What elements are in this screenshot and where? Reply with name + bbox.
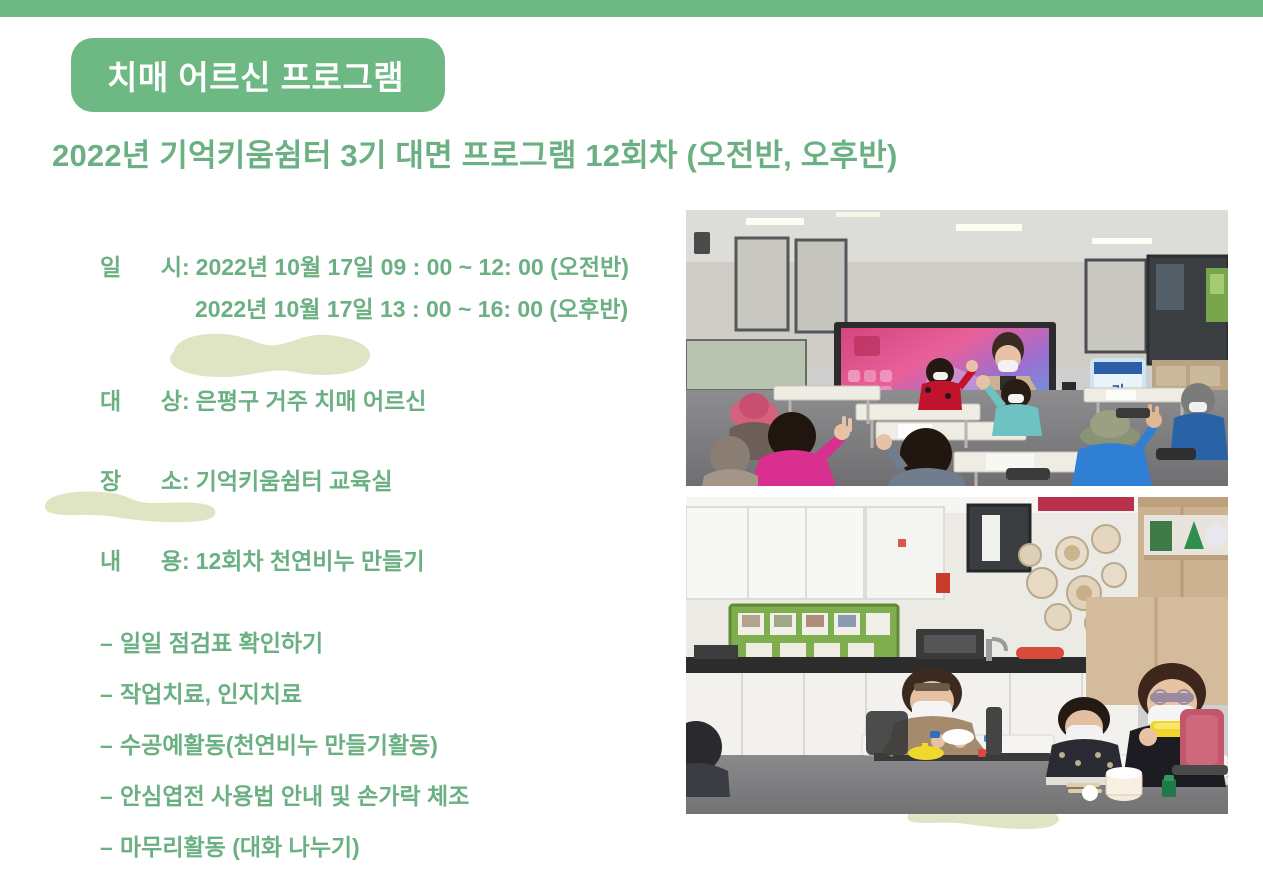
classroom-group-exercise-photo: 기 억 키 움 쉼터 — [686, 210, 1228, 486]
detail-label-target: 대 상 — [100, 382, 182, 416]
detail-label-content: 내 용 — [100, 542, 182, 576]
detail-colon: : — [182, 548, 196, 575]
activity-item: – 일일 점검표 확인하기 — [100, 624, 469, 658]
detail-value-content: 12회차 천연비누 만들기 — [196, 542, 425, 576]
detail-row-content: 내 용 : 12회차 천연비누 만들기 — [100, 542, 424, 576]
detail-label-datetime: 일 시 — [100, 248, 182, 282]
bullet-dash-icon: – — [100, 783, 120, 810]
natural-soap-making-photo — [686, 497, 1228, 814]
activity-list: – 일일 점검표 확인하기 – 작업치료, 인지치료 – 수공예활동(천연비누 … — [100, 624, 469, 879]
activity-item-label: 마무리활동 (대화 나누기) — [120, 828, 360, 862]
activity-item: – 수공예활동(천연비누 만들기활동) — [100, 726, 469, 760]
top-accent-bar — [0, 0, 1263, 17]
detail-value-datetime-afternoon: 2022년 10월 17일 13 : 00 ~ 16: 00 (오후반) — [195, 290, 628, 324]
program-badge-label: 치매 어르신 프로그램 — [71, 51, 404, 99]
bullet-dash-icon: – — [100, 681, 120, 708]
detail-row-place: 장 소 : 기억키움쉼터 교육실 — [100, 462, 393, 496]
detail-label-place: 장 소 — [100, 462, 182, 496]
detail-row-datetime-second: 2022년 10월 17일 13 : 00 ~ 16: 00 (오후반) — [100, 290, 700, 324]
activity-item-label: 수공예활동(천연비누 만들기활동) — [120, 726, 438, 760]
poster-page: 치매 어르신 프로그램 2022년 기억키움쉼터 3기 대면 프로그램 12회차… — [0, 0, 1263, 893]
detail-value-datetime-morning: 2022년 10월 17일 09 : 00 ~ 12: 00 (오전반) — [196, 248, 629, 282]
activity-item-label: 작업치료, 인지치료 — [120, 675, 302, 709]
bullet-dash-icon: – — [100, 630, 120, 657]
detail-value-place: 기억키움쉼터 교육실 — [196, 462, 393, 496]
activity-item-label: 안심엽전 사용법 안내 및 손가락 체조 — [120, 777, 469, 811]
program-badge: 치매 어르신 프로그램 — [71, 38, 445, 112]
decorative-blob-upper — [156, 327, 374, 377]
program-details: 일 시 : 2022년 10월 17일 09 : 00 ~ 12: 00 (오전… — [100, 248, 700, 324]
detail-colon: : — [182, 254, 196, 281]
activity-item-label: 일일 점검표 확인하기 — [120, 624, 323, 658]
detail-value-target: 은평구 거주 치매 어르신 — [196, 382, 427, 416]
bullet-dash-icon: – — [100, 732, 120, 759]
activity-item: – 안심엽전 사용법 안내 및 손가락 체조 — [100, 777, 469, 811]
detail-row-datetime: 일 시 : 2022년 10월 17일 09 : 00 ~ 12: 00 (오전… — [100, 248, 700, 282]
activity-item: – 마무리활동 (대화 나누기) — [100, 828, 469, 862]
page-title: 2022년 기억키움쉼터 3기 대면 프로그램 12회차 (오전반, 오후반) — [52, 130, 897, 175]
detail-colon: : — [182, 388, 196, 415]
detail-colon: : — [182, 468, 196, 495]
detail-row-target: 대 상 : 은평구 거주 치매 어르신 — [100, 382, 426, 416]
bullet-dash-icon: – — [100, 834, 120, 861]
activity-item: – 작업치료, 인지치료 — [100, 675, 469, 709]
